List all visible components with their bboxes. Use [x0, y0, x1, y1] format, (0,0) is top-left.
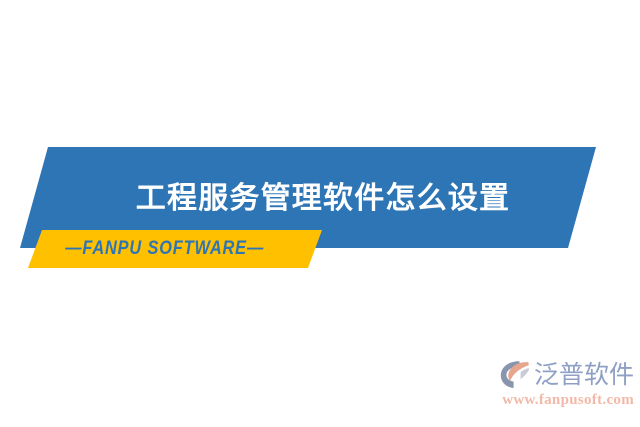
logo-company-name: 泛普软件: [534, 362, 634, 387]
fanpu-swoosh-icon: [499, 359, 531, 390]
logo-row: 泛普软件: [488, 357, 634, 391]
logo-website: www.fanpusoft.com: [488, 392, 634, 409]
yellow-ribbon-shape: [0, 228, 360, 270]
brand-logo: 泛普软件 www.fanpusoft.com: [488, 357, 634, 415]
poster-canvas: 工程服务管理软件怎么设置 —FANPU SOFTWARE— 泛普软件 www.f…: [0, 0, 640, 427]
yellow-parallelogram-polygon: [28, 230, 322, 268]
